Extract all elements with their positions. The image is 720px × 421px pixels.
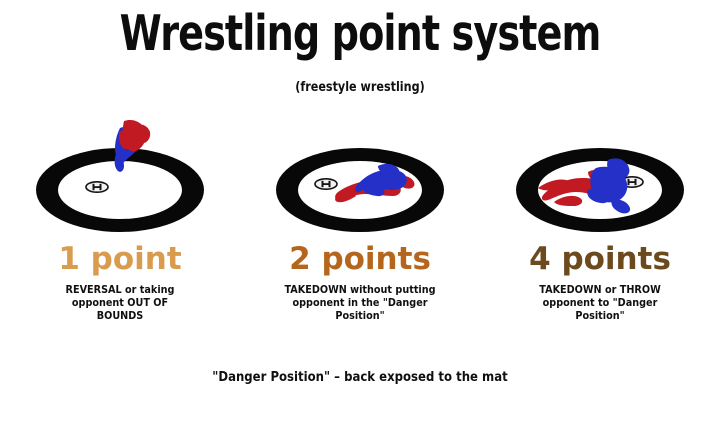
- points-label-2: 2 points: [240, 240, 480, 278]
- wrestling-mat-icon: [260, 108, 460, 240]
- page-subtitle: (freestyle wrestling): [50, 80, 669, 96]
- mat-center-marking: [86, 182, 108, 192]
- footnote-danger-position: "Danger Position" – back exposed to the …: [36, 369, 684, 387]
- caption-line: opponent in the "Danger: [268, 297, 452, 310]
- wrestling-mat-icon: [20, 108, 220, 240]
- page-title: Wrestling point system: [79, 6, 641, 62]
- caption-line: TAKEDOWN without putting: [268, 284, 452, 297]
- points-label-1: 1 point: [0, 240, 240, 278]
- caption-2: TAKEDOWN without putting opponent in the…: [268, 284, 452, 323]
- points-label-3: 4 points: [480, 240, 720, 278]
- caption-3: TAKEDOWN or THROW opponent to "Danger Po…: [508, 284, 692, 323]
- caption-line: Position": [268, 310, 452, 323]
- panel-2-points: 2 points TAKEDOWN without putting oppone…: [240, 108, 480, 348]
- panel-1-point: 1 point REVERSAL or taking opponent OUT …: [0, 108, 240, 348]
- mat-illustration-1: [0, 108, 240, 240]
- caption-line: Position": [508, 310, 692, 323]
- panel-4-points: 4 points TAKEDOWN or THROW opponent to "…: [480, 108, 720, 348]
- caption-line: REVERSAL or taking: [28, 284, 212, 297]
- mat-illustration-3: [480, 108, 720, 240]
- caption-line: opponent OUT OF: [28, 297, 212, 310]
- caption-line: opponent to "Danger: [508, 297, 692, 310]
- caption-1: REVERSAL or taking opponent OUT OF BOUND…: [28, 284, 212, 323]
- wrestling-mat-icon: [500, 108, 700, 240]
- caption-line: TAKEDOWN or THROW: [508, 284, 692, 297]
- panels-row: 1 point REVERSAL or taking opponent OUT …: [0, 108, 720, 348]
- mat-illustration-2: [240, 108, 480, 240]
- caption-line: BOUNDS: [28, 310, 212, 323]
- mat-center-marking: [315, 179, 337, 189]
